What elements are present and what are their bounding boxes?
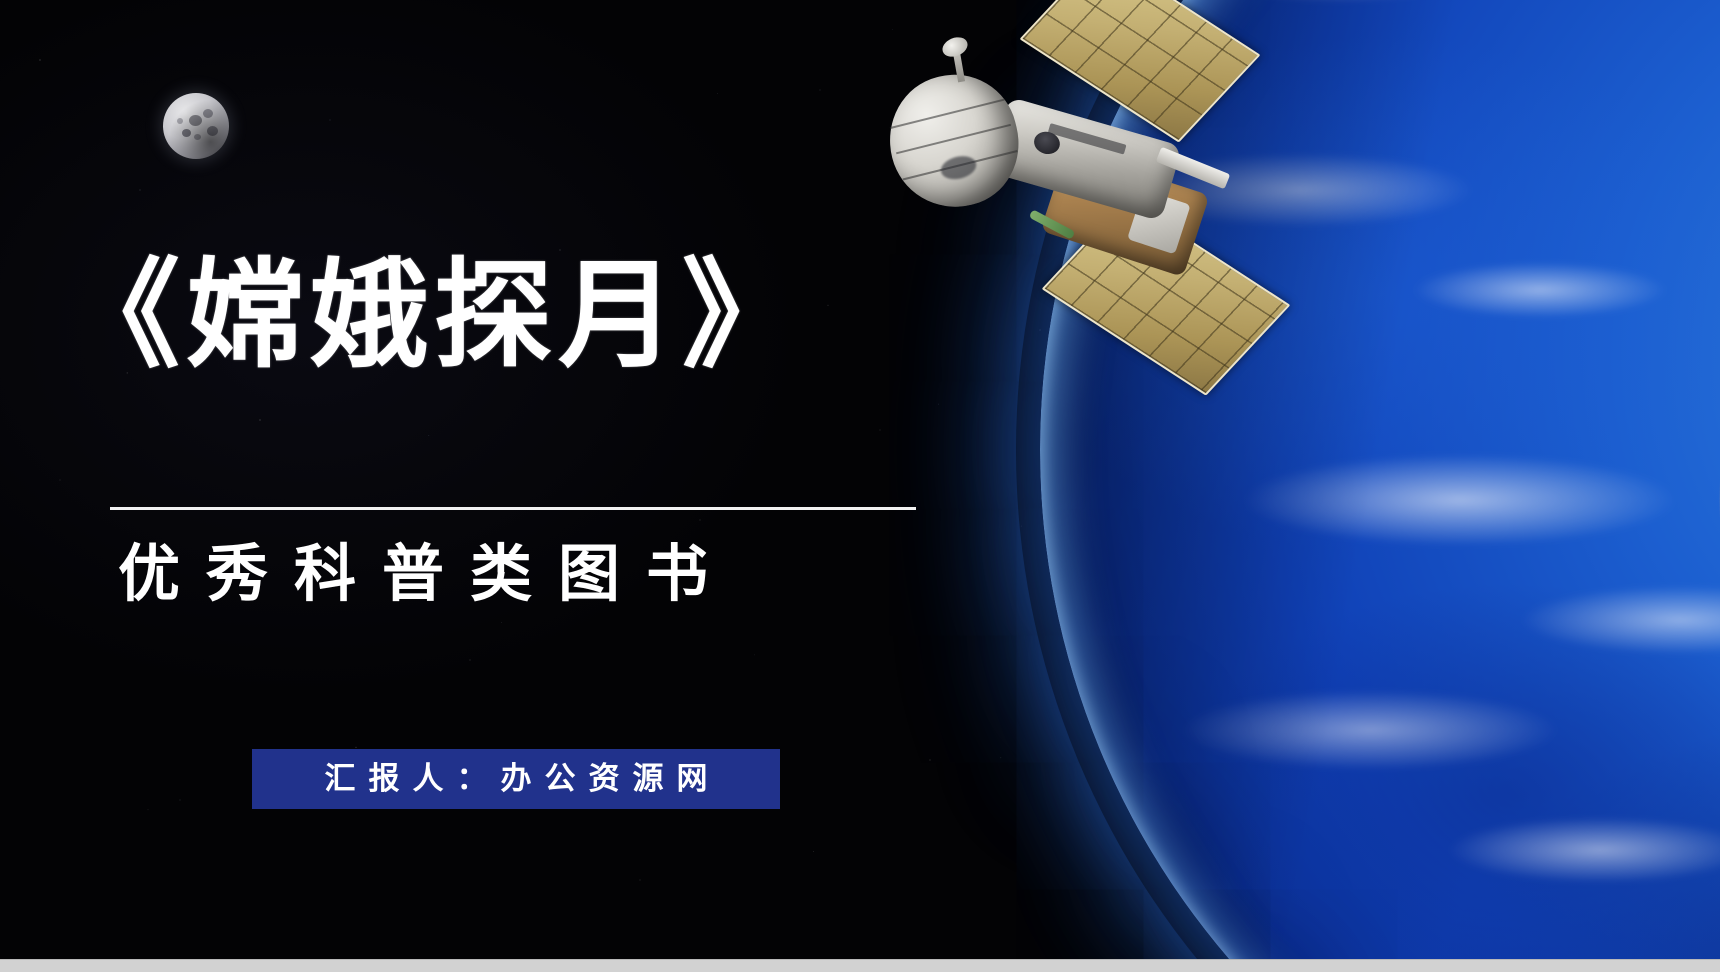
presenter-label: 汇报人：办公资源网 bbox=[312, 764, 721, 795]
title-text-block: 《嫦娥探月》 优秀科普类图书 汇报人：办公资源网 bbox=[0, 0, 1000, 972]
presentation-slide: 《嫦娥探月》 优秀科普类图书 汇报人：办公资源网 bbox=[0, 0, 1720, 972]
slide-main-title: 《嫦娥探月》 bbox=[62, 240, 962, 390]
presenter-badge: 汇报人：办公资源网 bbox=[252, 749, 780, 809]
spacecraft-body-strip bbox=[1048, 123, 1127, 154]
bottom-status-bar bbox=[0, 959, 1720, 972]
title-divider-line bbox=[110, 507, 916, 510]
slide-subtitle: 优秀科普类图书 bbox=[118, 530, 938, 618]
